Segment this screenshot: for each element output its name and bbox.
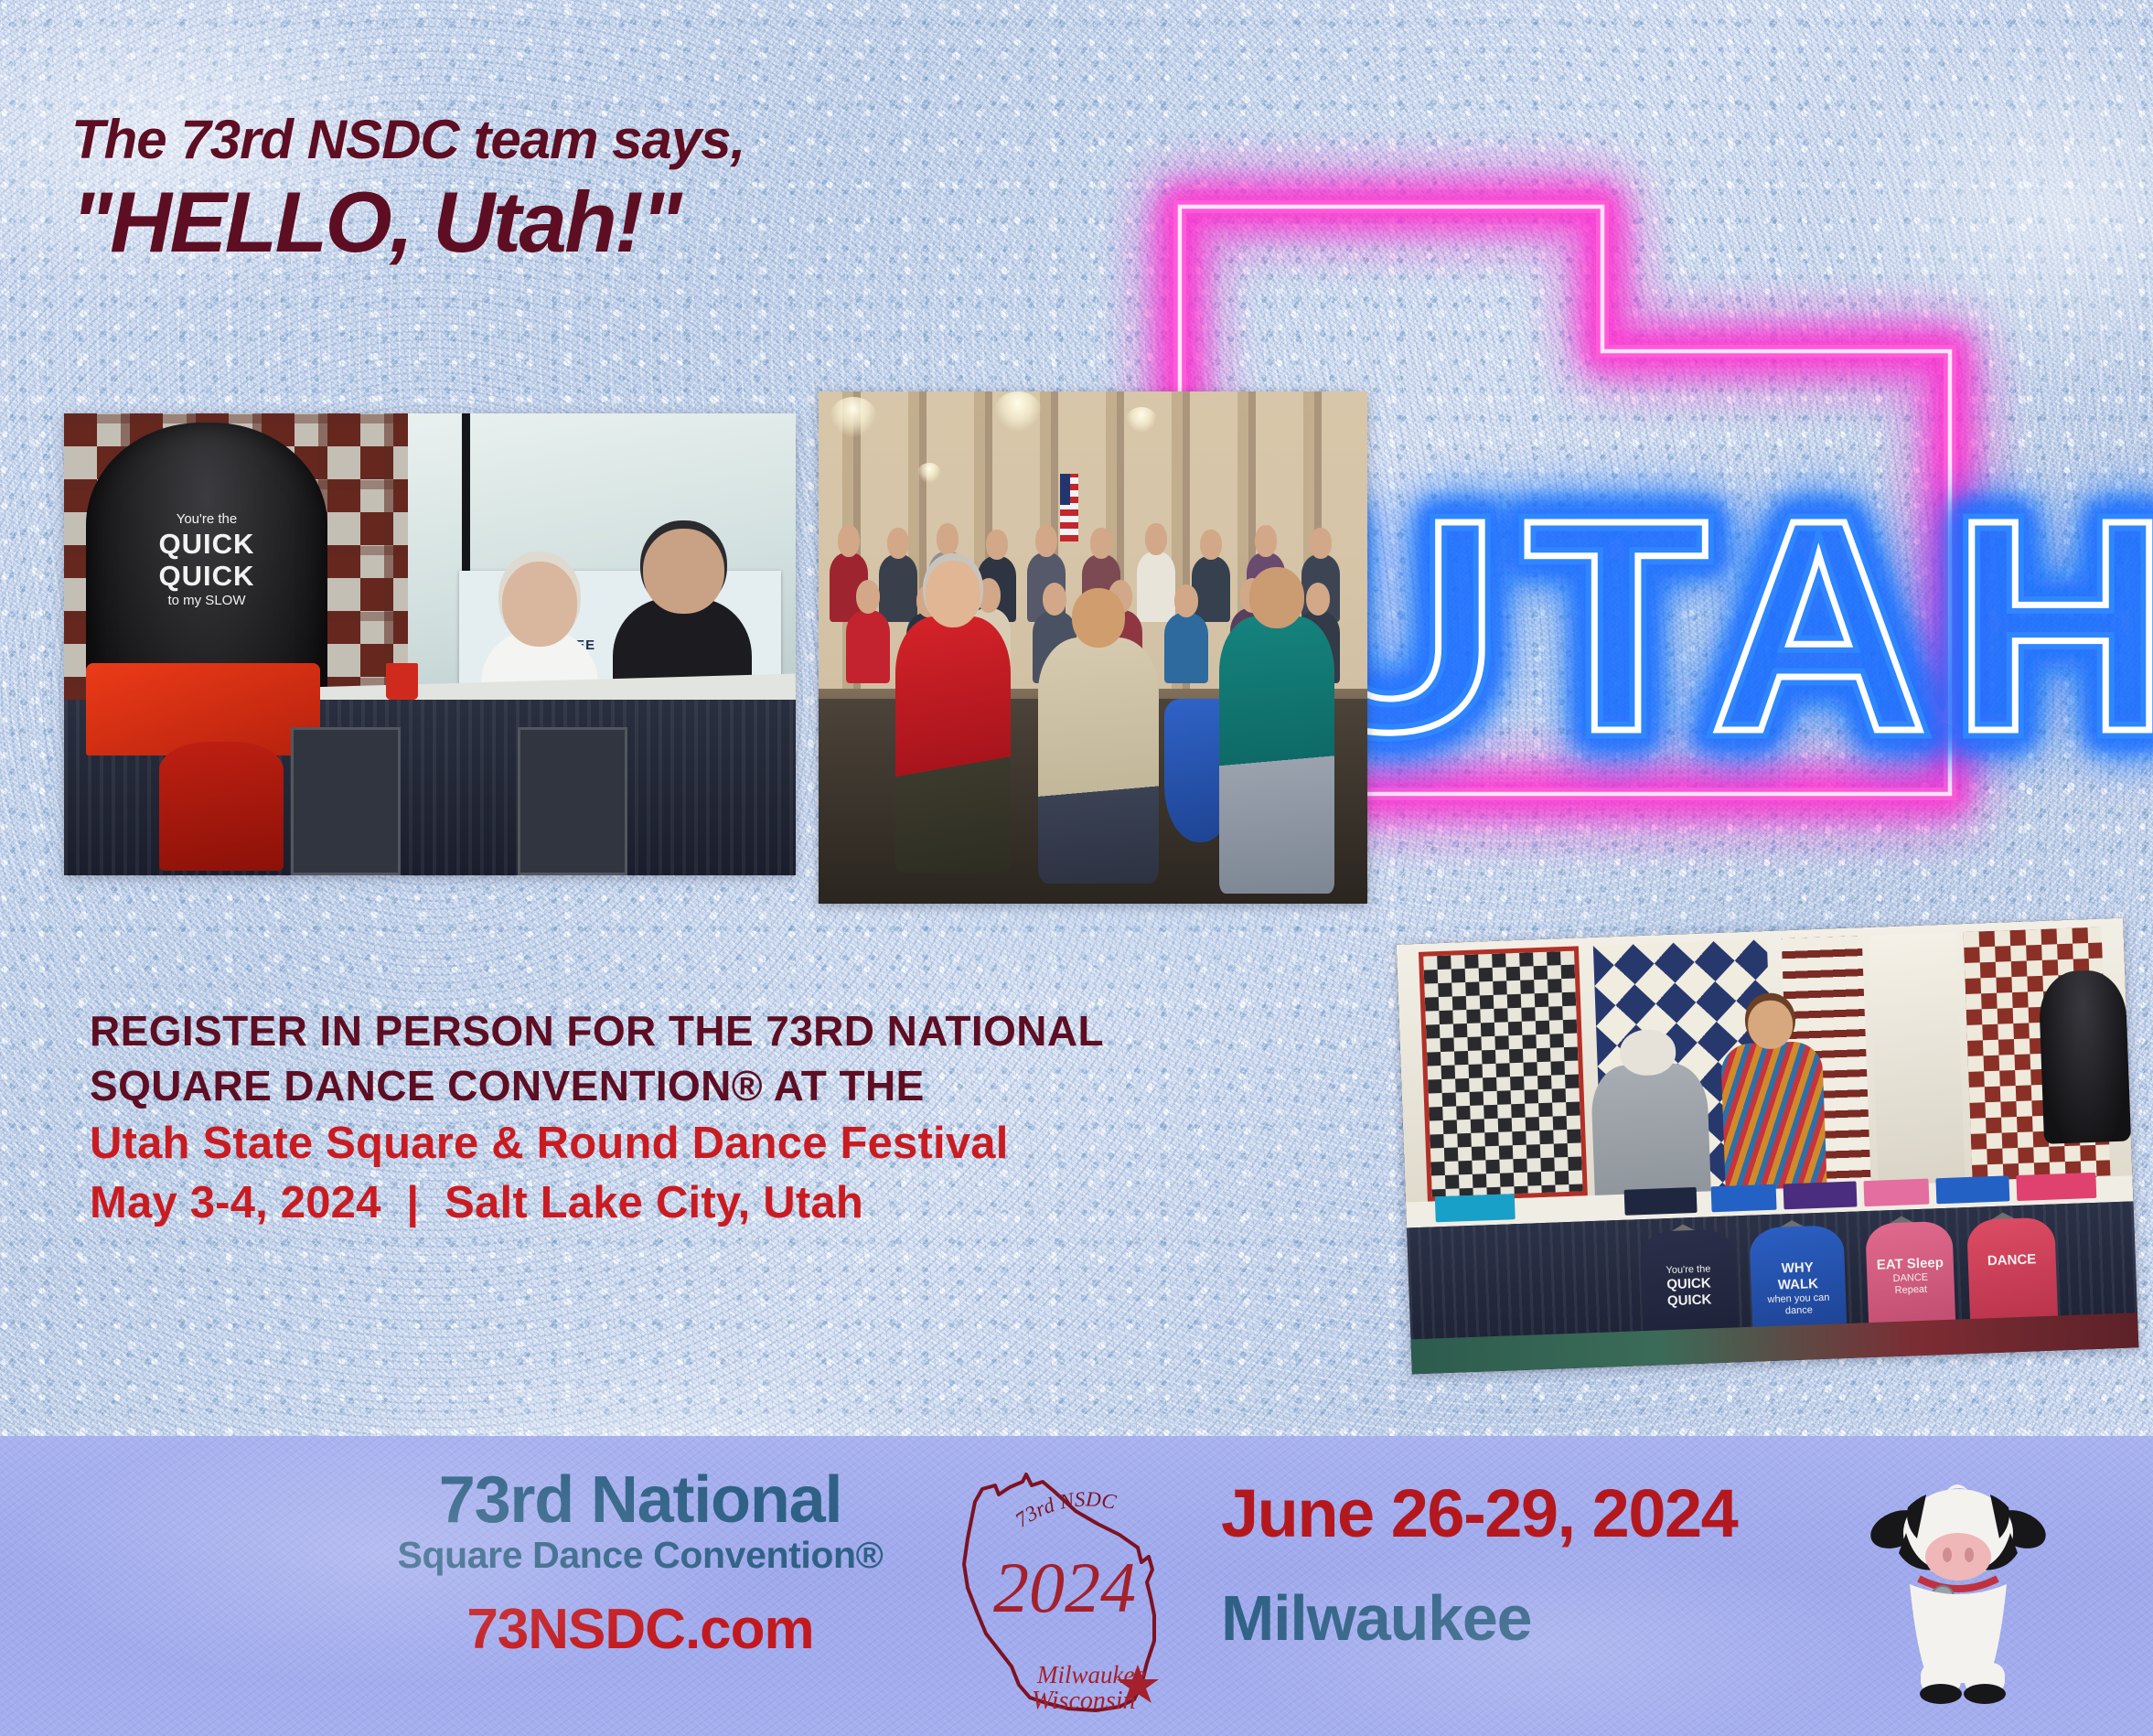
shirt4-big: DANCE — [1976, 1251, 2047, 1270]
wisconsin-logo-svg: 73rd NSDC 2024 Milwaukee Wisconsin — [959, 1454, 1205, 1720]
chair-back — [291, 727, 401, 875]
copy-festival-name: Utah State Square & Round Dance Festival — [90, 1114, 1104, 1174]
folded-shirt-stack — [1710, 1184, 1777, 1213]
logo-state: Wisconsin — [1032, 1687, 1136, 1715]
logo-year: 2024 — [993, 1548, 1136, 1627]
folded-shirt-stack — [2016, 1173, 2096, 1201]
photo-vendor-booth: You're the QUICK QUICK WHY WALK when you… — [1397, 918, 2139, 1375]
red-hanging-shirt — [159, 742, 284, 871]
footer-event-city: Milwaukee — [1221, 1586, 1737, 1650]
quilt-panel — [1419, 947, 1588, 1202]
copy-line-1: REGISTER IN PERSON FOR THE 73RD NATIONAL — [90, 1004, 1104, 1059]
shirt2-big: when you can dance — [1767, 1292, 1829, 1317]
headline-line-1: The 73rd NSDC team says, — [71, 108, 744, 171]
copy-line-2: SQUARE DANCE CONVENTION® AT THE — [90, 1059, 1104, 1114]
photo-registration-desk: You're the QUICK QUICK to my SLOW NSDC M… — [64, 413, 796, 875]
footer-website-link[interactable]: 73NSDC.com — [366, 1602, 915, 1658]
folded-shirt-stack — [1435, 1194, 1516, 1222]
folded-shirt-stack — [1783, 1182, 1857, 1210]
wisconsin-state-logo: 73rd NSDC 2024 Milwaukee Wisconsin — [959, 1454, 1205, 1720]
footer-title-line-1: 73rd National — [366, 1467, 915, 1533]
svg-text:UTAH: UTAH — [1282, 456, 2153, 794]
shirt3-big: DANCE Repeat — [1892, 1272, 1928, 1297]
display-tshirt-right — [2038, 970, 2131, 1144]
chandelier — [830, 397, 877, 437]
shirt-text-top: You're the — [108, 511, 305, 527]
folded-shirt-stack — [1863, 1179, 1930, 1207]
folded-shirt-stack — [1936, 1176, 2009, 1205]
dancer-red-shirt — [895, 616, 1011, 873]
chair-back — [518, 727, 627, 875]
copy-date: May 3-4, 2024 — [90, 1178, 381, 1227]
shirt1-big: QUICK QUICK — [1651, 1275, 1728, 1311]
cow-mascot-svg — [1862, 1476, 2058, 1705]
registration-copy-block: REGISTER IN PERSON FOR THE 73RD NATIONAL… — [90, 1004, 1104, 1234]
shirt-text-bottom: to my SLOW — [108, 593, 305, 608]
neon-utah-letters: UTAH UTAH UTAH — [1282, 456, 2153, 794]
folded-shirt-stack — [1623, 1187, 1697, 1216]
shirt1-small: You're the — [1666, 1264, 1710, 1277]
poster-canvas: The 73rd NSDC team says, "HELLO, Utah!" — [0, 0, 2153, 1736]
shirt3-small: EAT Sleep — [1875, 1255, 1945, 1274]
shirt2-small: WHY WALK — [1760, 1259, 1837, 1295]
footer-event-date: June 26-29, 2024 — [1221, 1480, 1737, 1548]
copy-separator: | — [393, 1178, 432, 1227]
footer-title-line-2: Square Dance Convention® — [366, 1535, 915, 1576]
american-flag — [1060, 474, 1078, 541]
dancer-teal-shirt — [1219, 616, 1334, 893]
chandelier — [1126, 407, 1157, 433]
footer-event-block: June 26-29, 2024 Milwaukee — [1221, 1480, 1737, 1650]
photo-ballroom-dancers — [819, 391, 1367, 904]
copy-place: Salt Lake City, Utah — [445, 1178, 863, 1227]
shirt-text-big-2: QUICK — [108, 560, 305, 593]
footer-band: 73rd National Square Dance Convention® 7… — [0, 1436, 2153, 1736]
dancer-tan-sweater — [1038, 638, 1159, 884]
plush-cow-mascot — [1862, 1476, 2058, 1705]
shirt-text-big-1: QUICK — [108, 528, 305, 561]
coffee-cup — [386, 663, 418, 700]
copy-date-place: May 3-4, 2024 | Salt Lake City, Utah — [90, 1173, 1104, 1234]
quilt-panel — [1869, 933, 1965, 1185]
headline-group: The 73rd NSDC team says, "HELLO, Utah!" — [71, 108, 744, 272]
chandelier — [994, 391, 1042, 432]
headline-line-2: "HELLO, Utah!" — [71, 173, 744, 272]
footer-brand-block: 73rd National Square Dance Convention® 7… — [366, 1467, 915, 1658]
